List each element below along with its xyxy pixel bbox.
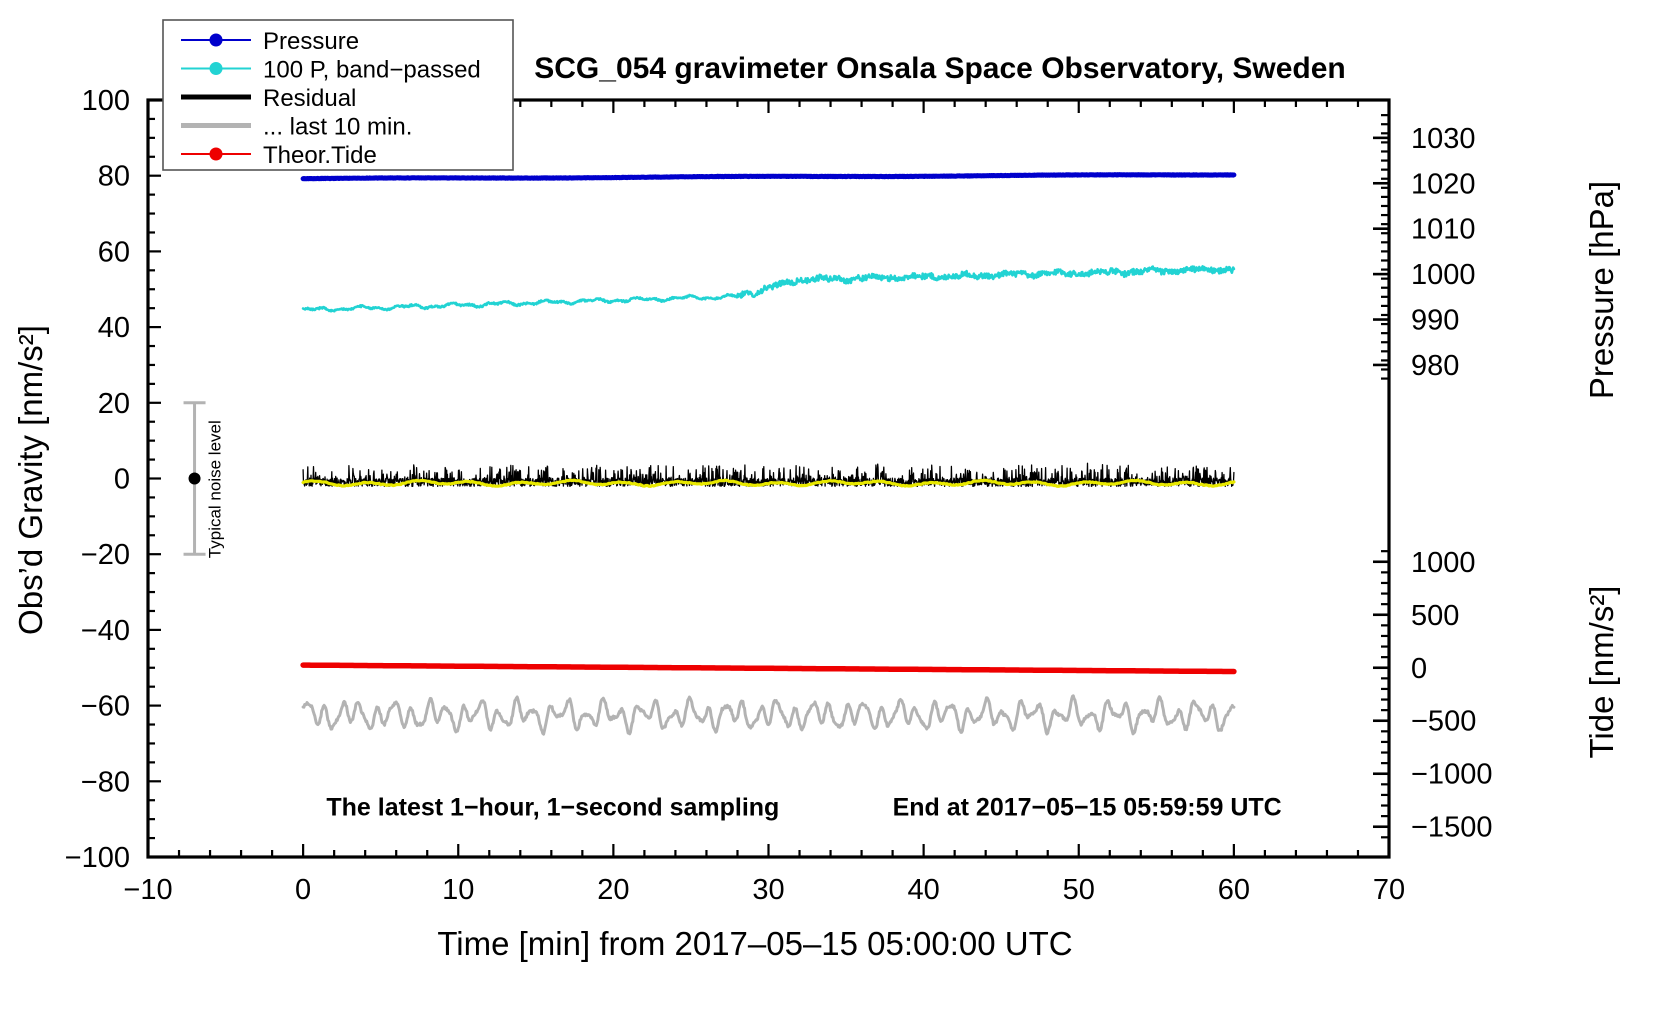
x-tick-label: 30 bbox=[752, 874, 784, 906]
tide-tick-label: 1000 bbox=[1411, 547, 1476, 579]
y-tick-label: −80 bbox=[81, 766, 130, 798]
legend-label-0: Pressure bbox=[263, 28, 359, 55]
x-tick-label: 60 bbox=[1218, 874, 1250, 906]
y-axis-title-pressure: Pressure [hPa] bbox=[1583, 181, 1620, 399]
tide-tick-label: −500 bbox=[1411, 706, 1476, 738]
pressure-tick-label: 990 bbox=[1411, 305, 1459, 337]
y-tick-label: −100 bbox=[65, 842, 130, 874]
end-time-note: End at 2017−05−15 05:59:59 UTC bbox=[893, 793, 1282, 821]
x-tick-label: 50 bbox=[1063, 874, 1095, 906]
tide-tick-label: 500 bbox=[1411, 600, 1459, 632]
legend-label-3: ... last 10 min. bbox=[263, 114, 412, 141]
tide-tick-label: −1000 bbox=[1411, 759, 1492, 791]
tide-tick-label: −1500 bbox=[1411, 812, 1492, 844]
legend-label-2: Residual bbox=[263, 85, 356, 112]
x-tick-label: 70 bbox=[1373, 874, 1405, 906]
x-tick-label: 0 bbox=[295, 874, 311, 906]
y-axis-title-tide: Tide [nm/s²] bbox=[1583, 586, 1620, 759]
y-tick-label: −60 bbox=[81, 691, 130, 723]
pressure-tick-label: 1000 bbox=[1411, 259, 1476, 291]
x-tick-label: 20 bbox=[597, 874, 629, 906]
pressure-tick-label: 1010 bbox=[1411, 214, 1476, 246]
y-tick-label: 20 bbox=[98, 388, 130, 420]
y-tick-label: 100 bbox=[82, 85, 130, 117]
legend-label-1: 100 P, band−passed bbox=[263, 57, 481, 84]
legend: Pressure100 P, band−passedResidual... la… bbox=[163, 20, 513, 170]
gravimeter-plot-page: −10010203040506070−100−80−60−40−20020406… bbox=[0, 0, 1660, 1020]
x-axis-title: Time [min] from 2017–05–15 05:00:00 UTC bbox=[437, 925, 1072, 962]
legend-marker-1 bbox=[210, 62, 223, 75]
pressure-tick-label: 1020 bbox=[1411, 168, 1476, 200]
y-tick-label: 80 bbox=[98, 161, 130, 193]
y-tick-label: 40 bbox=[98, 312, 130, 344]
legend-label-4: Theor.Tide bbox=[263, 142, 377, 169]
pressure-tick-label: 980 bbox=[1411, 350, 1459, 382]
y-tick-label: −40 bbox=[81, 615, 130, 647]
y-tick-label: −20 bbox=[81, 539, 130, 571]
noise-level-point bbox=[189, 473, 201, 485]
sampling-note: The latest 1−hour, 1−second sampling bbox=[326, 793, 779, 821]
tide-tick-label: 0 bbox=[1411, 653, 1427, 685]
y-axis-title-left: Obs’d Gravity [nm/s²] bbox=[12, 325, 49, 635]
y-tick-label: 0 bbox=[114, 464, 130, 496]
legend-marker-4 bbox=[210, 148, 223, 161]
legend-marker-0 bbox=[210, 34, 223, 47]
page-title: SCG_054 gravimeter Onsala Space Observat… bbox=[534, 52, 1346, 85]
pressure-tick-label: 1030 bbox=[1411, 123, 1476, 155]
x-tick-label: 10 bbox=[442, 874, 474, 906]
gravimeter-chart: −10010203040506070−100−80−60−40−20020406… bbox=[0, 0, 1660, 1020]
noise-level-label: Typical noise level bbox=[206, 420, 225, 558]
y-tick-label: 60 bbox=[98, 236, 130, 268]
x-tick-label: −10 bbox=[123, 874, 172, 906]
x-tick-label: 40 bbox=[907, 874, 939, 906]
